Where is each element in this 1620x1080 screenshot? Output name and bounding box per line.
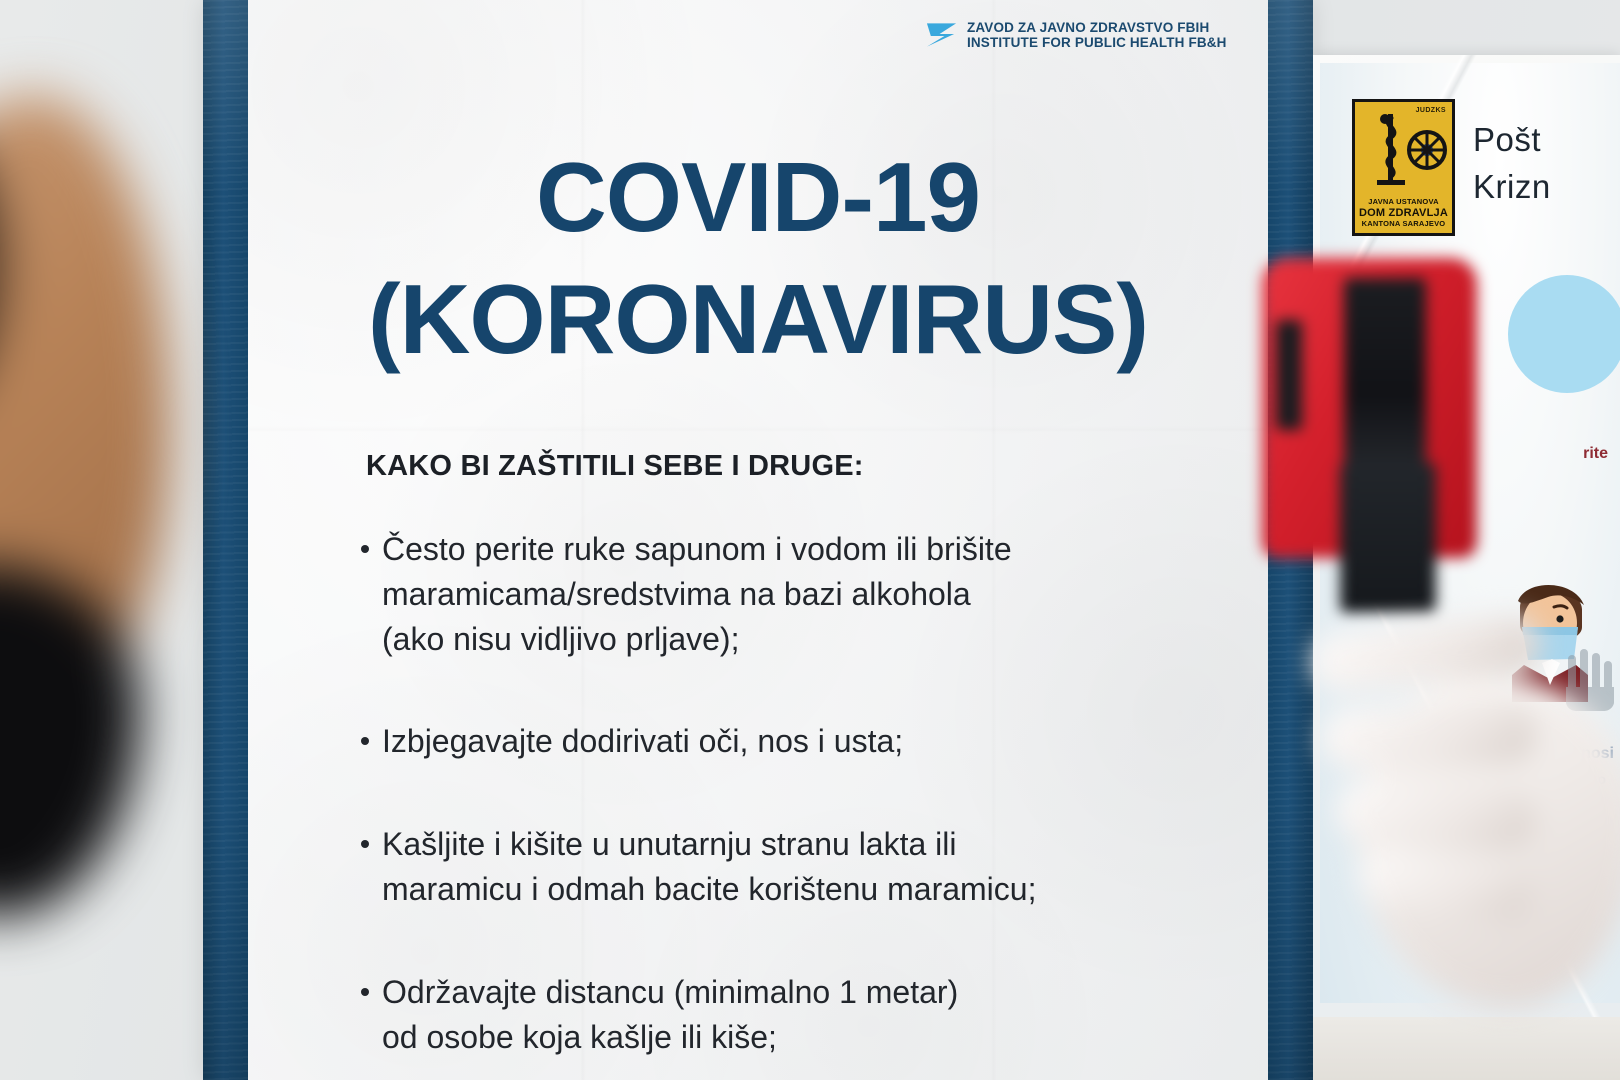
zzjz-wave-logo-icon	[925, 20, 958, 50]
list-item: Izbjegavajte dodirivati oči, nos i usta;	[361, 719, 1191, 764]
institute-logo: ZAVOD ZA JAVNO ZDRAVSTVO FBIH INSTITUTE …	[925, 20, 1227, 50]
logo-caption: JAVNA USTANOVA DOM ZDRAVLJA KANTONA SARA…	[1355, 198, 1452, 229]
wall-ledge	[1313, 1017, 1620, 1080]
bullet-dot-icon	[361, 737, 369, 745]
logo-abbreviation: JUDZKS	[1416, 107, 1446, 114]
bullet-dot-icon	[361, 988, 369, 996]
advice-line: od osobe koja kašlje ili kiše;	[382, 1015, 958, 1060]
institute-name-en: INSTITUTE FOR PUBLIC HEALTH FB&H	[967, 35, 1227, 50]
secondary-title-line-1: Pošt	[1473, 117, 1551, 164]
partial-text-c: ko	[1590, 771, 1606, 787]
poster-body: KAKO BI ZAŠTITILI SEBE I DRUGE: Često pe…	[361, 450, 1191, 1059]
advice-text: Izbjegavajte dodirivati oči, nos i usta;	[382, 719, 903, 764]
logo-caption-line-3: KANTONA SARAJEVO	[1355, 220, 1452, 229]
advice-line: maramicama/sredstvima na bazi alkohola	[382, 572, 1012, 617]
advice-text: Kašljite i kišite u unutarnju stranu lak…	[382, 822, 1036, 912]
advice-line: Često perite ruke sapunom i vodom ili br…	[382, 527, 1012, 572]
rod-of-asclepius-icon	[1371, 110, 1411, 188]
list-item: Često perite ruke sapunom i vodom ili br…	[361, 527, 1191, 661]
advice-text: Često perite ruke sapunom i vodom ili br…	[382, 527, 1012, 661]
dom-zdravlja-logo: JUDZKS JAVNA USTANOVA DOM ZDRAVLJA KANTO…	[1352, 99, 1455, 236]
secondary-title-line-2: Krizn	[1473, 164, 1551, 211]
institute-logo-text: ZAVOD ZA JAVNO ZDRAVSTVO FBIH INSTITUTE …	[967, 20, 1227, 50]
secondary-poster: JUDZKS JAVNA USTANOVA DOM ZDRAVLJA KANTO…	[1313, 55, 1620, 1017]
screenshot-scene: ZAVOD ZA JAVNO ZDRAVSTVO FBIH INSTITUTE …	[0, 0, 1620, 1080]
institute-name-bs: ZAVOD ZA JAVNO ZDRAVSTVO FBIH	[967, 20, 1227, 35]
advice-line: maramicu i odmah bacite korištenu marami…	[382, 867, 1036, 912]
advice-list: Često perite ruke sapunom i vodom ili br…	[361, 527, 1191, 1059]
partial-text-b: o nosi	[1567, 745, 1614, 763]
bullet-dot-icon	[361, 840, 369, 848]
advice-text: Održavajte distancu (minimalno 1 metar) …	[382, 970, 958, 1060]
bullet-dot-icon	[361, 545, 369, 553]
poster-subheading: KAKO BI ZAŠTITILI SEBE I DRUGE:	[366, 450, 1191, 483]
advice-line: Izbjegavajte dodirivati oči, nos i usta;	[382, 719, 903, 764]
advice-line: Održavajte distancu (minimalno 1 metar)	[382, 970, 958, 1015]
secondary-poster-title: Pošt Krizn	[1473, 117, 1551, 211]
advice-line: (ako nisu vidljivo prljave);	[382, 617, 1012, 662]
blue-circle-graphic	[1508, 275, 1620, 393]
logo-caption-line-1: JAVNA USTANOVA	[1355, 198, 1452, 207]
covid-poster: ZAVOD ZA JAVNO ZDRAVSTVO FBIH INSTITUTE …	[203, 0, 1313, 1080]
partial-text-a: rite	[1583, 445, 1608, 463]
wheel-emblem-icon	[1407, 130, 1447, 170]
advice-line: Kašljite i kišite u unutarnju stranu lak…	[382, 822, 1036, 867]
poster-headline: COVID-19 (KORONAVIRUS)	[203, 148, 1313, 370]
headline-line-2: (KORONAVIRUS)	[203, 270, 1313, 370]
headline-line-1: COVID-19	[203, 148, 1313, 248]
list-item: Kašljite i kišite u unutarnju stranu lak…	[361, 822, 1191, 912]
list-item: Održavajte distancu (minimalno 1 metar) …	[361, 970, 1191, 1060]
washing-hands-icon	[1562, 647, 1620, 711]
